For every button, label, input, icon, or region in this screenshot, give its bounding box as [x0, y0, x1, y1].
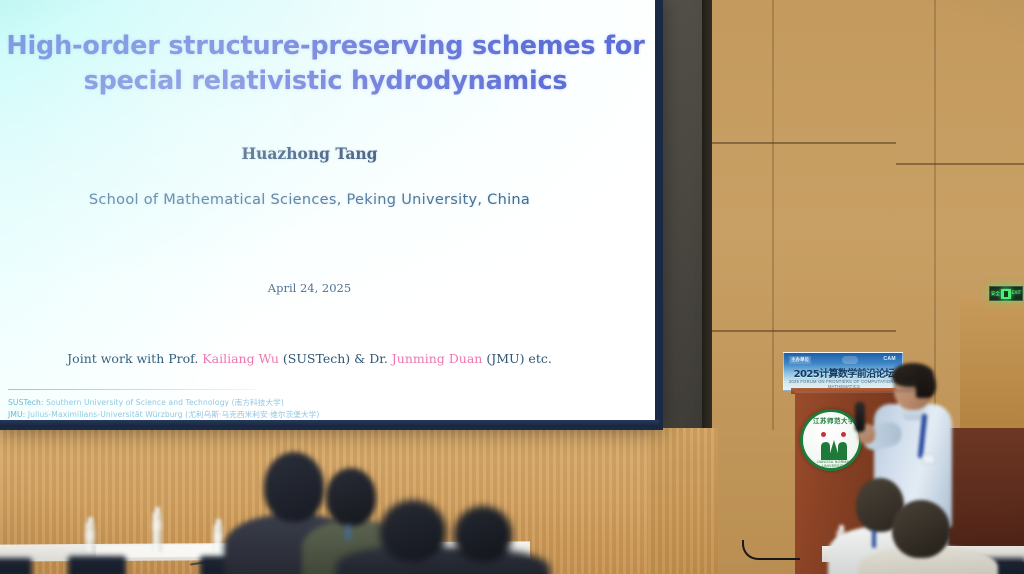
water-bottle: [213, 524, 223, 554]
joint-mid: (SUSTech) & Dr.: [279, 351, 392, 366]
glasses-icon: [894, 383, 916, 391]
exit-sign-label-right: EXIT: [1012, 291, 1021, 296]
footnote-jmu: JMU: Julius-Maximilians-Universität Würz…: [8, 409, 628, 420]
emblem-year: 1952: [803, 454, 862, 458]
water-bottle: [152, 512, 162, 552]
emergency-exit-sign: 安全 EXIT: [989, 286, 1023, 301]
wall-panel-seam: [708, 142, 896, 144]
audience-member: [436, 506, 534, 574]
slide-author: Huazhong Tang: [0, 144, 623, 163]
audience-head: [892, 500, 950, 558]
footnote-sustech: SUSTech: Southern University of Science …: [8, 397, 628, 408]
chair-back: [0, 558, 32, 574]
wainscot-panel-right: [648, 428, 718, 574]
running-person-icon: [1001, 289, 1011, 299]
banner-logo-center-icon: [842, 356, 858, 364]
audience-member: [878, 500, 982, 574]
audience-head: [454, 506, 512, 562]
footnote-sustech-text: Southern University of Science and Techn…: [44, 398, 284, 407]
microphone-icon: [855, 402, 865, 432]
slide-affiliation: School of Mathematical Sciences, Peking …: [0, 192, 623, 208]
university-emblem: 江苏师范大学 1952 JIANGSU NORMAL UNIVERSITY: [800, 409, 862, 471]
slide-date: April 24, 2025: [0, 281, 623, 295]
collaborator-name-1: Kailiang Wu: [202, 351, 279, 366]
exit-sign-label-left: 安全: [991, 291, 1000, 297]
collaborator-name-2: Junming Duan: [392, 351, 483, 366]
emblem-bottom-text: JIANGSU NORMAL UNIVERSITY: [806, 460, 862, 468]
joint-prefix: Joint work with Prof.: [67, 351, 202, 366]
wall-panel-seam: [896, 163, 1024, 165]
slide-title-line2: special relativistic hydrodynamics: [0, 64, 655, 99]
footnote-sustech-label: SUSTech:: [8, 398, 44, 407]
footnote-jmu-text: Julius-Maximilians-Universität Würzburg …: [25, 410, 319, 419]
emblem-top-text: 江苏师范大学: [809, 415, 859, 431]
projection-screen: High-order structure-preserving schemes …: [0, 0, 655, 422]
footnote-divider: [8, 389, 256, 390]
banner-logo-left: 主办单位: [789, 356, 811, 364]
slide-joint-work: Joint work with Prof. Kailiang Wu (SUSTe…: [0, 351, 623, 366]
conference-hall-photo: 安全 EXIT High-order structure-preserving …: [0, 0, 1024, 574]
slide-title-line1: High-order structure-preserving schemes …: [6, 31, 644, 61]
slide-title: High-order structure-preserving schemes …: [0, 29, 655, 99]
microphone-cable: [742, 540, 800, 560]
wall-lower-right: [960, 300, 1024, 436]
joint-suffix: (JMU) etc.: [482, 351, 551, 366]
presentation-slide: High-order structure-preserving schemes …: [0, 0, 655, 422]
wall-panel-seam-vertical: [772, 0, 774, 430]
presenter-badge: [922, 454, 935, 464]
wall-dark-edge: [702, 0, 712, 430]
wall-panel-seam: [708, 330, 896, 332]
screen-bottom-border: [0, 420, 659, 427]
audience-lanyard: [872, 530, 876, 548]
footnote-jmu-label: JMU:: [8, 410, 25, 419]
projection-screen-frame: High-order structure-preserving schemes …: [0, 0, 663, 430]
chair-back: [68, 556, 126, 574]
audience-lanyard: [346, 524, 350, 540]
water-bottle: [85, 522, 95, 552]
banner-logo-right: CAM: [883, 356, 896, 362]
